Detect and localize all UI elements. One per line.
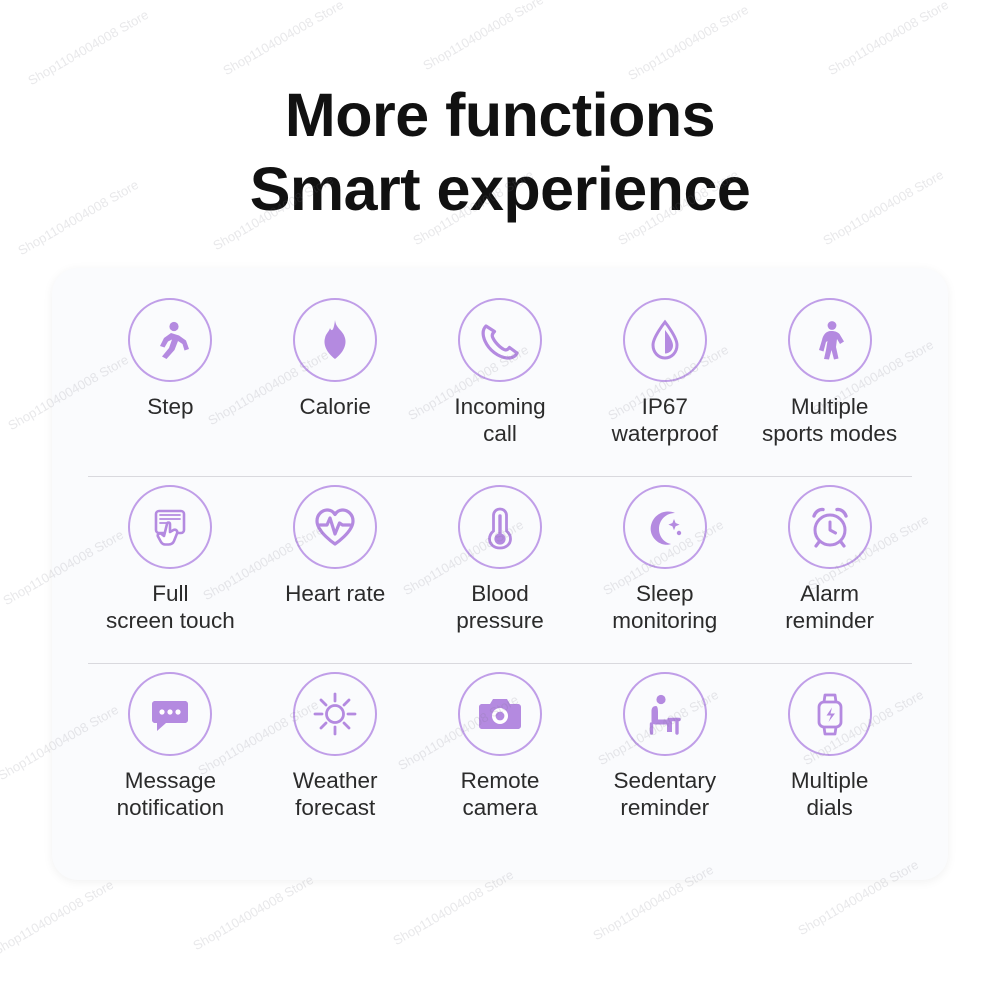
sitting-person-icon (623, 672, 707, 756)
feature-label: Remote camera (461, 767, 540, 821)
feature-label: Heart rate (285, 580, 385, 607)
feature-row: Full screen touch Heart rate (88, 477, 912, 663)
running-person-icon (128, 298, 212, 382)
feature-item-step: Step (88, 290, 253, 420)
feature-item-calorie: Calorie (253, 290, 418, 420)
feature-item-full-screen-touch: Full screen touch (88, 477, 253, 634)
moon-stars-icon (623, 485, 707, 569)
feature-item-weather-forecast: Weather forecast (253, 664, 418, 821)
watermark-text: Shop1104004008 Store (625, 2, 751, 83)
touch-hand-icon (128, 485, 212, 569)
page-title-line-1: More functions (0, 78, 1000, 152)
heartbeat-icon (293, 485, 377, 569)
feature-label: Alarm reminder (785, 580, 874, 634)
watermark-text: Shop1104004008 Store (420, 0, 546, 73)
alarm-clock-icon (788, 485, 872, 569)
feature-item-sedentary-reminder: Sedentary reminder (582, 664, 747, 821)
feature-row: Step Calorie Incoming call (88, 290, 912, 476)
stretching-person-icon (788, 298, 872, 382)
feature-label: Sedentary reminder (614, 767, 717, 821)
feature-label: Step (147, 393, 193, 420)
feature-label: Weather forecast (293, 767, 378, 821)
feature-item-ip67-waterproof: IP67 waterproof (582, 290, 747, 447)
camera-icon (458, 672, 542, 756)
watermark-text: Shop1104004008 Store (190, 872, 316, 953)
promo-page: More functions Smart experience Step (0, 0, 1000, 1000)
watermark-text: Shop1104004008 Store (25, 7, 151, 88)
water-drop-icon (623, 298, 707, 382)
thermometer-icon (458, 485, 542, 569)
feature-item-multiple-dials: Multiple dials (747, 664, 912, 821)
feature-item-blood-pressure: Blood pressure (418, 477, 583, 634)
feature-label: Full screen touch (106, 580, 235, 634)
phone-handset-icon (458, 298, 542, 382)
feature-item-sleep-monitoring: Sleep monitoring (582, 477, 747, 634)
watermark-text: Shop1104004008 Store (825, 0, 951, 78)
feature-item-remote-camera: Remote camera (418, 664, 583, 821)
watermark-text: Shop1104004008 Store (0, 877, 116, 958)
sun-icon (293, 672, 377, 756)
feature-label: Incoming call (454, 393, 545, 447)
feature-item-message-notification: Message notification (88, 664, 253, 821)
page-title-line-2: Smart experience (0, 152, 1000, 226)
feature-item-alarm-reminder: Alarm reminder (747, 477, 912, 634)
feature-item-incoming-call: Incoming call (418, 290, 583, 447)
feature-label: IP67 waterproof (612, 393, 718, 447)
page-title: More functions Smart experience (0, 78, 1000, 226)
feature-label: Sleep monitoring (612, 580, 717, 634)
feature-label: Blood pressure (456, 580, 544, 634)
feature-label: Multiple sports modes (762, 393, 897, 447)
feature-label: Multiple dials (791, 767, 869, 821)
feature-card: Step Calorie Incoming call (52, 268, 948, 880)
watermark-text: Shop1104004008 Store (220, 0, 346, 78)
feature-item-heart-rate: Heart rate (253, 477, 418, 607)
flame-icon (293, 298, 377, 382)
feature-label: Message notification (117, 767, 225, 821)
feature-item-multiple-sports-modes: Multiple sports modes (747, 290, 912, 447)
smartwatch-icon (788, 672, 872, 756)
message-bubble-icon (128, 672, 212, 756)
feature-row: Message notification Weather forecast (88, 664, 912, 850)
feature-label: Calorie (300, 393, 371, 420)
